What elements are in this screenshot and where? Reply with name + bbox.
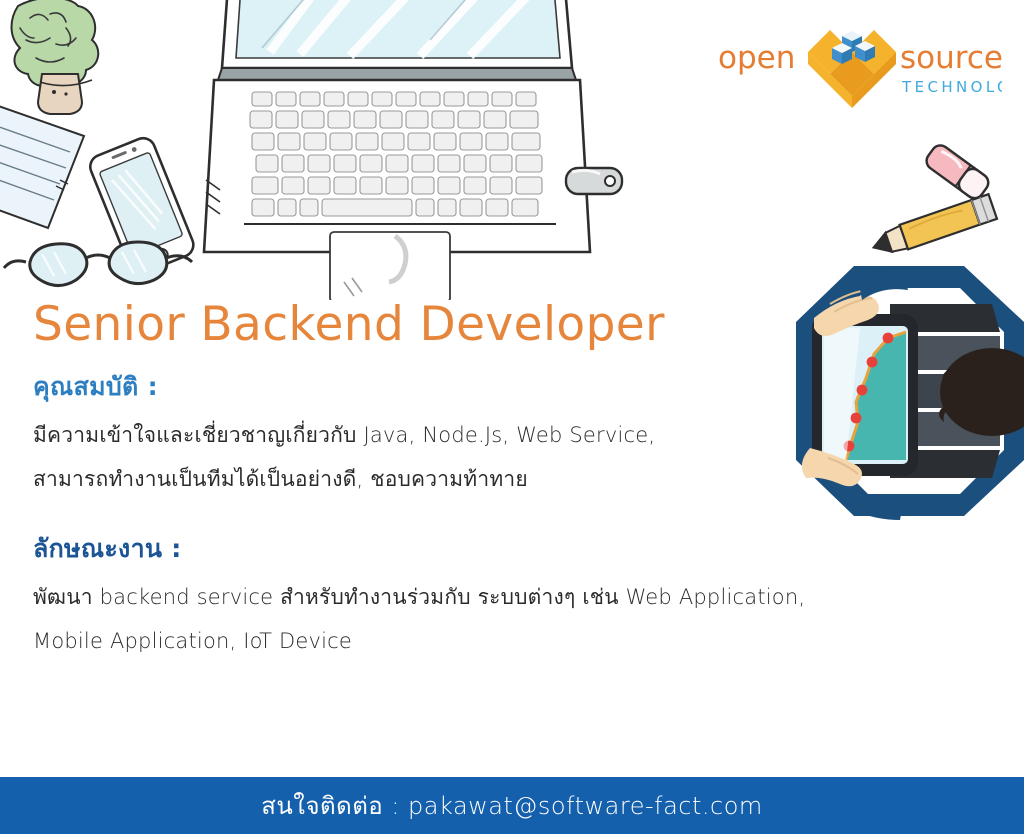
- duty-section: ลักษณะงาน : พัฒนา backend service สำหรับ…: [33, 529, 823, 657]
- pencil-icon: [869, 194, 997, 260]
- usb-drive-icon: [566, 168, 622, 194]
- eraser-icon: [923, 142, 992, 202]
- qualification-heading: คุณสมบัติ :: [33, 367, 823, 407]
- duty-line-1: พัฒนา backend service สำหรับทำงานร่วมกับ…: [33, 583, 823, 613]
- desk-dark-shapes: [882, 304, 1000, 478]
- notebook-papers-icon: [0, 96, 84, 228]
- person-head-icon: [939, 348, 1024, 436]
- person-body-shape: [796, 266, 1024, 516]
- eyeglasses-icon: [4, 242, 192, 286]
- person-with-tablet-illustration: [794, 262, 1024, 520]
- qualification-section: คุณสมบัติ : มีความเข้าใจและเชี่ยวชาญเกี่…: [33, 367, 823, 495]
- contact-footer-bar: สนใจติดต่อ : pakawat@software-fact.com: [0, 777, 1024, 834]
- chart-data-points: [844, 333, 894, 452]
- company-logo: open source TECHNOLOGY: [712, 22, 1002, 114]
- qualification-line-2: สามารถทำงานเป็นทีมได้เป็นอย่างดี, ชอบควา…: [33, 465, 823, 495]
- logo-word-source: source: [900, 40, 1002, 76]
- laptop-icon: [204, 0, 590, 300]
- qualification-line-1: มีความเข้าใจและเชี่ยวชาญเกี่ยวกับ Java, …: [33, 421, 823, 451]
- page-title: Senior Backend Developer: [33, 300, 823, 349]
- duty-heading: ลักษณะงาน :: [33, 529, 823, 569]
- potted-plant-icon: [12, 0, 99, 114]
- poster-content: Senior Backend Developer คุณสมบัติ : มีค…: [33, 300, 823, 671]
- desk-scene-illustration: [0, 0, 700, 300]
- job-posting-poster: open source TECHNOLOGY: [0, 0, 1024, 834]
- tablet-device-icon: [812, 314, 918, 476]
- duty-line-2: Mobile Application, IoT Device: [33, 627, 823, 657]
- open-source-technology-logo-svg: open source TECHNOLOGY: [712, 22, 1002, 114]
- logo-word-open: open: [718, 40, 795, 76]
- contact-text: สนใจติดต่อ : pakawat@software-fact.com: [261, 786, 763, 825]
- smartphone-icon: [87, 135, 197, 277]
- pencil-eraser-illustration: [856, 130, 1016, 265]
- logo-tagline: TECHNOLOGY: [901, 78, 1002, 96]
